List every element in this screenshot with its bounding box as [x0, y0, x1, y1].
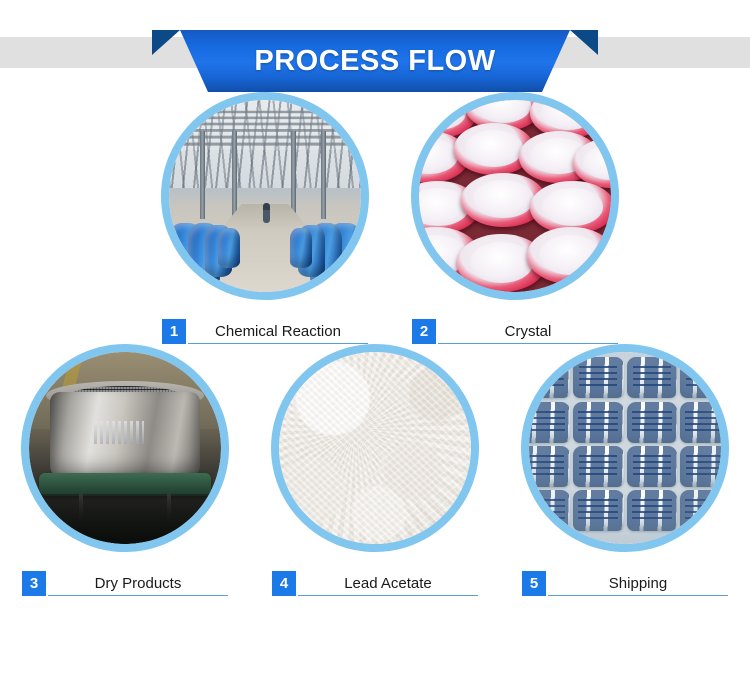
step-2-caption: 2 Crystal — [412, 314, 618, 344]
reactor-vessels-right — [284, 184, 361, 292]
process-step-5: 5 Shipping — [500, 344, 750, 596]
process-steps-row-top: 1 Chemical Reaction — [0, 92, 750, 344]
step-3-caption: 3 Dry Products — [22, 566, 228, 596]
factory-worker — [263, 203, 270, 223]
step-5-caption: 5 Shipping — [522, 566, 728, 596]
process-step-1: 1 Chemical Reaction — [140, 92, 390, 344]
centrifuge-dryer-photo — [29, 352, 221, 544]
step-number-badge: 5 — [522, 571, 546, 596]
step-3-image-circle — [21, 344, 229, 552]
step-4-image-circle — [271, 344, 479, 552]
factory-reactor-hall-photo — [169, 100, 361, 292]
step-label: Chemical Reaction — [188, 323, 368, 344]
page-title: PROCESS FLOW — [152, 30, 598, 92]
step-5-image-circle — [521, 344, 729, 552]
reactor-vessel — [218, 228, 240, 269]
packed-bags-photo — [529, 352, 721, 544]
process-flow-ribbon: PROCESS FLOW — [152, 15, 598, 77]
process-step-4: 4 Lead Acetate — [250, 344, 500, 596]
step-label: Dry Products — [48, 575, 228, 596]
step-number-badge: 1 — [162, 319, 186, 344]
white-powder-photo — [279, 352, 471, 544]
dryer-floor-shadow — [29, 494, 221, 544]
process-step-3: 3 Dry Products — [0, 344, 250, 596]
step-label: Lead Acetate — [298, 575, 478, 596]
process-steps-row-bottom: 3 Dry Products 4 Lead Acetate — [0, 344, 750, 596]
process-step-2: 2 Crystal — [390, 92, 640, 344]
reactor-vessel — [290, 228, 312, 269]
dryer-green-frame — [39, 473, 212, 496]
page-header: PROCESS FLOW — [0, 0, 750, 92]
step-number-badge: 3 — [22, 571, 46, 596]
step-label: Shipping — [548, 575, 728, 596]
crystal-tubs-photo — [419, 100, 611, 292]
step-number-badge: 2 — [412, 319, 436, 344]
step-number-badge: 4 — [272, 571, 296, 596]
bags-vignette — [529, 352, 721, 544]
step-2-image-circle — [411, 92, 619, 300]
process-steps-grid: 1 Chemical Reaction — [0, 92, 750, 596]
crystal-tub — [527, 227, 611, 285]
reactor-vessels-left — [169, 184, 246, 292]
step-1-caption: 1 Chemical Reaction — [162, 314, 368, 344]
powder-grain-texture — [279, 352, 471, 544]
step-4-caption: 4 Lead Acetate — [272, 566, 478, 596]
step-label: Crystal — [438, 323, 618, 344]
dryer-logo — [94, 421, 144, 444]
step-1-image-circle — [161, 92, 369, 300]
